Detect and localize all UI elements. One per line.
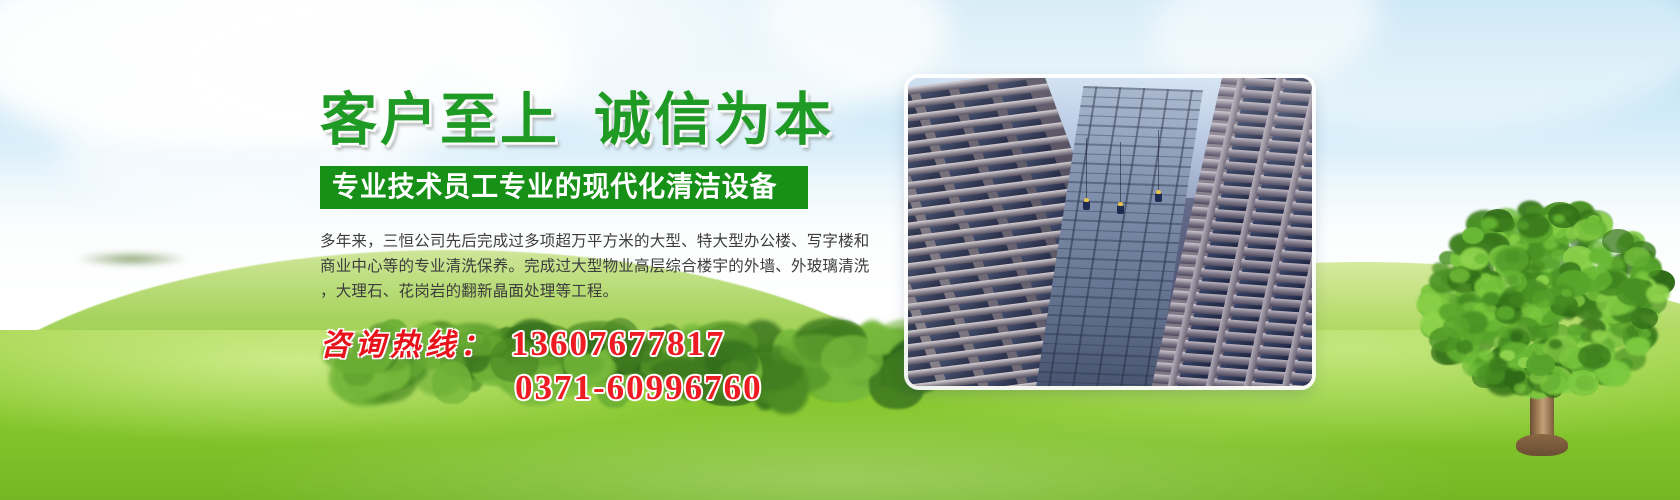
promo-banner: 客户至上诚信为本 专业技术员工专业的现代化清洁设备 多年来，三恒公司先后完成过多…: [0, 0, 1680, 500]
tree-shadow: [52, 248, 212, 270]
headline: 客户至上诚信为本: [320, 92, 900, 149]
description-paragraph: 多年来，三恒公司先后完成过多项超万平方米的大型、特大型办公楼、写字楼和 商业中心…: [320, 229, 882, 304]
sub-headline-text: 专业技术员工专业的现代化清洁设备: [332, 173, 777, 201]
phone-numbers: 13607677817 0371-60996760: [511, 322, 763, 410]
hotline-label: 咨询热线：: [320, 320, 495, 364]
window-cleaner-worker: [1082, 198, 1091, 211]
headline-part-1: 客户至上: [320, 89, 560, 152]
hotline-block: 咨询热线： 13607677817 0371-60996760: [320, 320, 900, 410]
phone-landline[interactable]: 0371-60996760: [511, 366, 763, 410]
building-photo[interactable]: [908, 78, 1312, 386]
paragraph-line-3: ，大理石、花岗岩的翻新晶面处理等工程。: [320, 279, 882, 304]
phone-mobile[interactable]: 13607677817: [511, 322, 763, 366]
building-photo-image: [908, 78, 1312, 386]
paragraph-line-1: 多年来，三恒公司先后完成过多项超万平方米的大型、特大型办公楼、写字楼和: [320, 229, 882, 254]
window-cleaner-worker: [1154, 190, 1163, 203]
window-cleaner-worker: [1116, 202, 1125, 215]
headline-part-2: 诚信为本: [594, 89, 834, 152]
sub-headline-bar: 专业技术员工专业的现代化清洁设备: [320, 166, 808, 209]
tree-canopy: [1420, 196, 1670, 408]
paragraph-line-2: 商业中心等的专业清洗保养。完成过大型物业高层综合楼宇的外墙、外玻璃清洗: [320, 254, 882, 279]
tree: [1420, 196, 1670, 464]
banner-copy: 客户至上诚信为本 专业技术员工专业的现代化清洁设备 多年来，三恒公司先后完成过多…: [320, 92, 900, 410]
